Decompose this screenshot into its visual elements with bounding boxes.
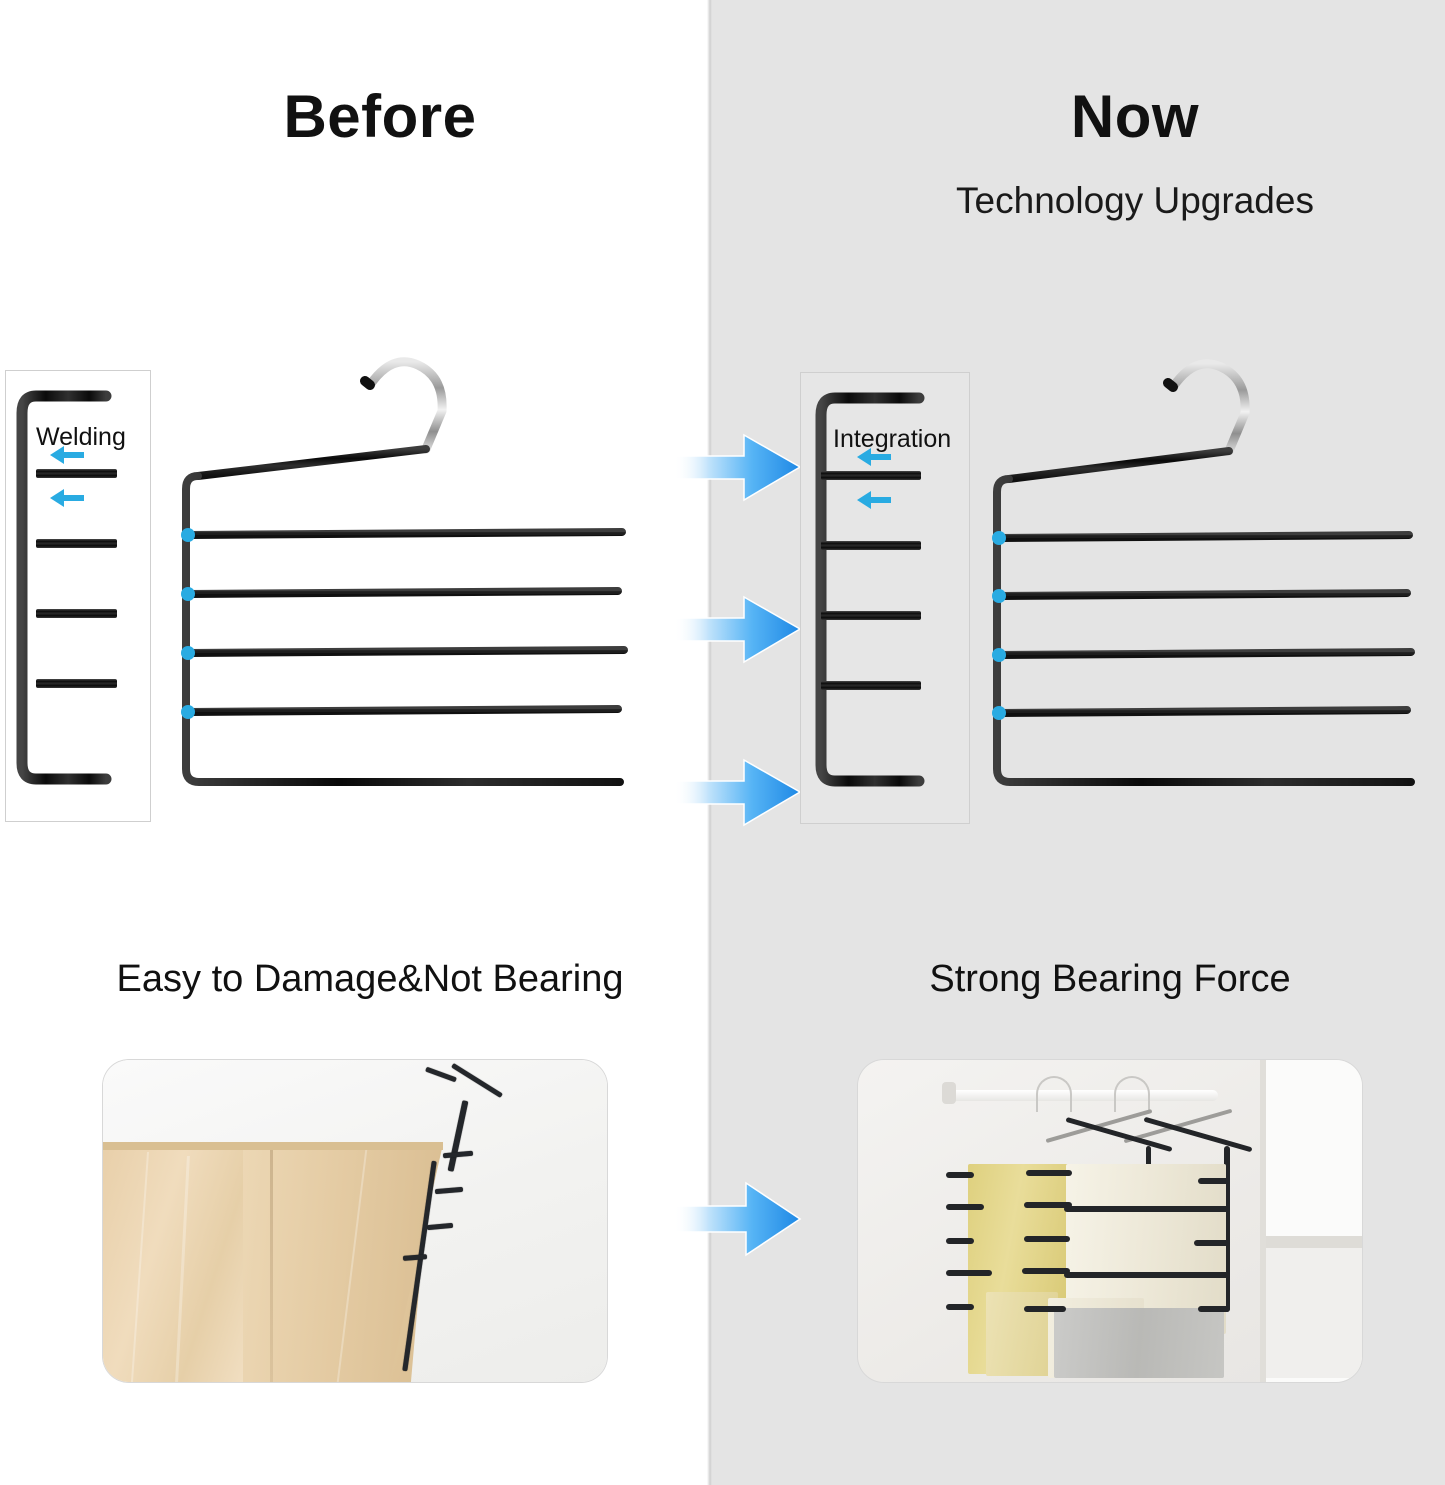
panel-divider bbox=[707, 0, 712, 1485]
before-hanger-diagram bbox=[160, 345, 660, 825]
before-caption: Easy to Damage&Not Bearing bbox=[60, 958, 680, 1001]
before-photo bbox=[103, 1060, 607, 1382]
now-photo bbox=[858, 1060, 1362, 1382]
now-caption: Strong Bearing Force bbox=[880, 958, 1340, 1001]
joint-dot-2 bbox=[181, 587, 195, 601]
transition-arrow-4 bbox=[672, 1178, 802, 1260]
joint-dot-3 bbox=[181, 646, 195, 660]
now-hanger-diagram bbox=[975, 345, 1445, 825]
now-subheading: Technology Upgrades bbox=[880, 180, 1390, 222]
joint-dot-4 bbox=[181, 705, 195, 719]
infographic-canvas: Before Now Technology Upgrades bbox=[0, 0, 1445, 1485]
hanger-hook-icon bbox=[1173, 364, 1245, 451]
integration-arrow-icon-2 bbox=[857, 491, 891, 509]
joint-dot-1 bbox=[181, 528, 195, 542]
transition-arrow-2 bbox=[672, 592, 802, 667]
integration-callout-box: Integration bbox=[800, 372, 970, 824]
welding-callout-label: Welding bbox=[36, 423, 126, 452]
transition-arrow-3 bbox=[672, 755, 802, 830]
before-heading: Before bbox=[180, 82, 580, 151]
joint-dot-4 bbox=[992, 706, 1006, 720]
joint-dot-2 bbox=[992, 589, 1006, 603]
hanger-hook-icon bbox=[370, 362, 442, 449]
welding-arrow-icon-2 bbox=[50, 489, 84, 507]
joint-dot-3 bbox=[992, 648, 1006, 662]
joint-dot-1 bbox=[992, 531, 1006, 545]
welding-callout-box: Welding bbox=[5, 370, 151, 822]
now-heading: Now bbox=[935, 82, 1335, 151]
integration-callout-label: Integration bbox=[833, 425, 951, 454]
transition-arrow-1 bbox=[672, 430, 802, 505]
